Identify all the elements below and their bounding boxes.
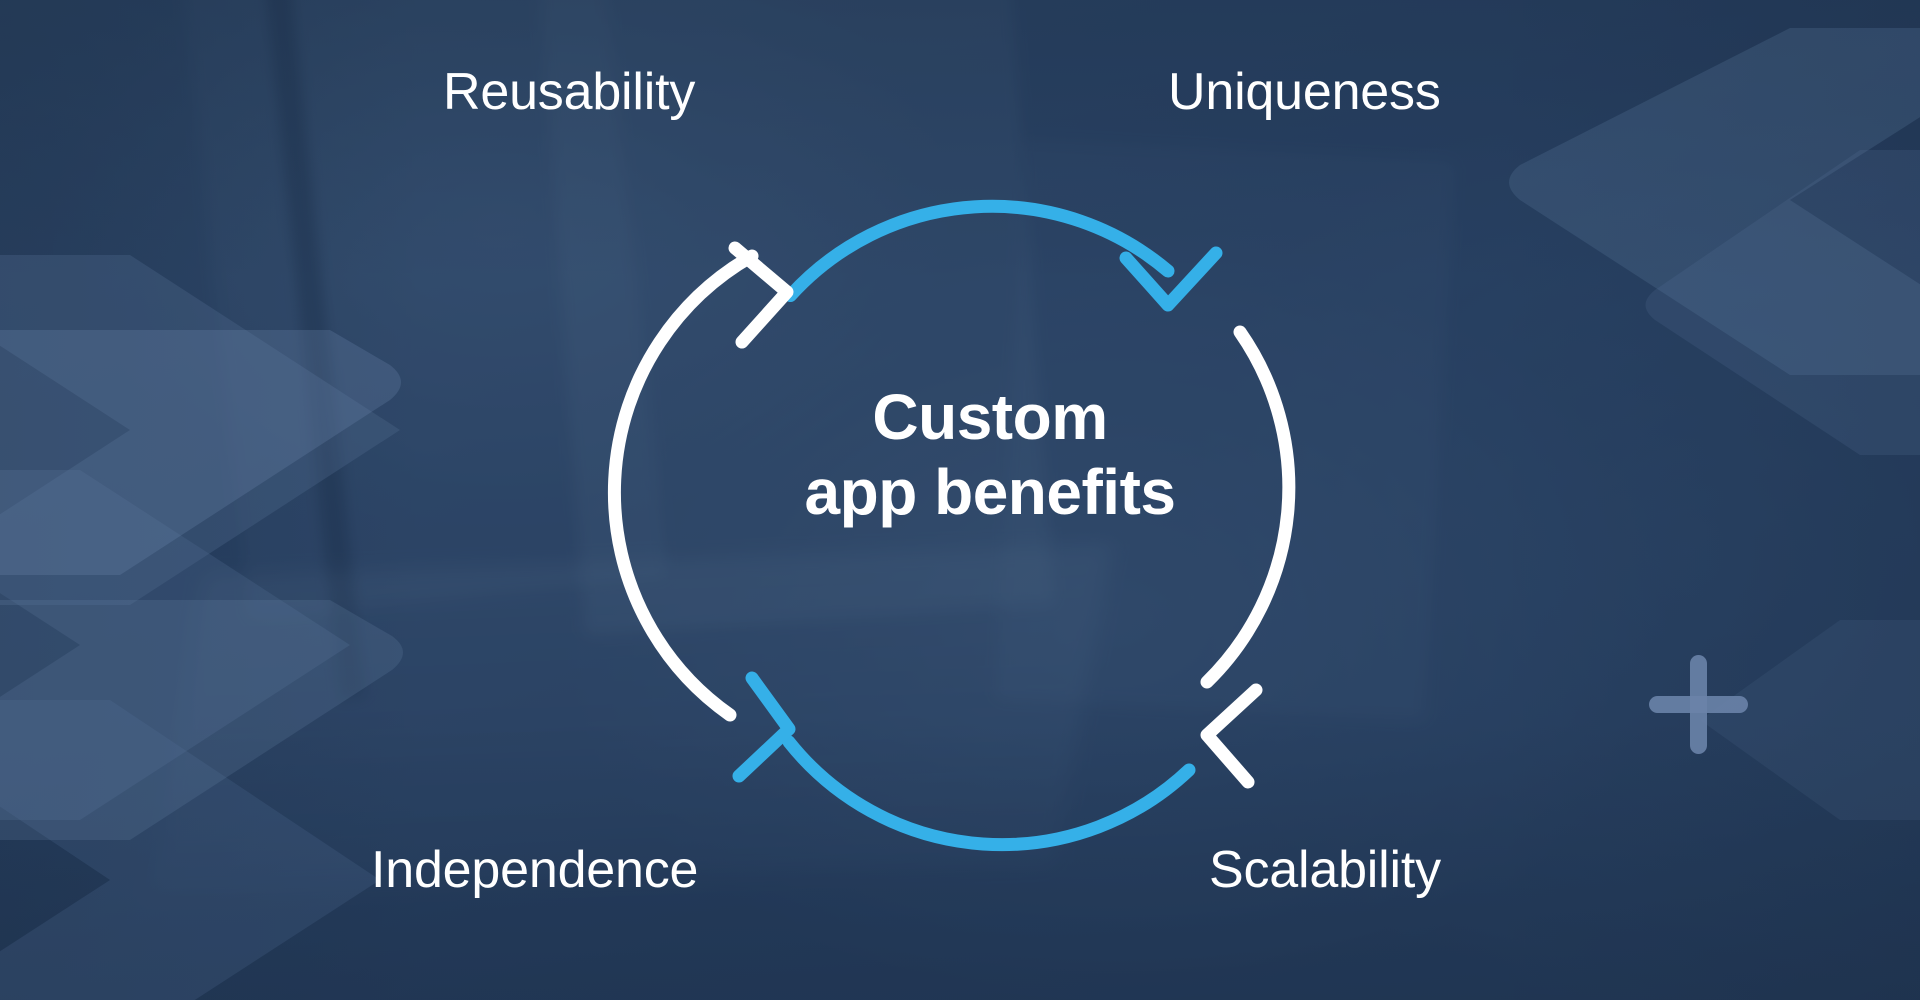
cycle-diagram: Custom app benefits Reusability Uniquene… bbox=[0, 0, 1920, 1000]
node-label-scalability: Scalability bbox=[1209, 840, 1441, 900]
center-title-line1: Custom bbox=[872, 381, 1107, 453]
node-label-independence: Independence bbox=[371, 840, 698, 900]
node-label-reusability: Reusability bbox=[443, 62, 695, 122]
cycle-segment-top-arc bbox=[791, 206, 1217, 305]
infographic-canvas: Custom app benefits Reusability Uniquene… bbox=[0, 0, 1920, 1000]
chevron-arrowhead-icon bbox=[1126, 253, 1216, 305]
chevron-arrowhead-icon bbox=[735, 248, 787, 342]
center-title: Custom app benefits bbox=[620, 380, 1360, 530]
chevron-arrowhead-icon bbox=[739, 678, 789, 776]
cycle-segment-bottom-arc bbox=[739, 678, 1189, 845]
chevron-arrowhead-icon bbox=[1207, 690, 1256, 782]
node-label-uniqueness: Uniqueness bbox=[1168, 62, 1441, 122]
center-title-line2: app benefits bbox=[620, 455, 1360, 530]
